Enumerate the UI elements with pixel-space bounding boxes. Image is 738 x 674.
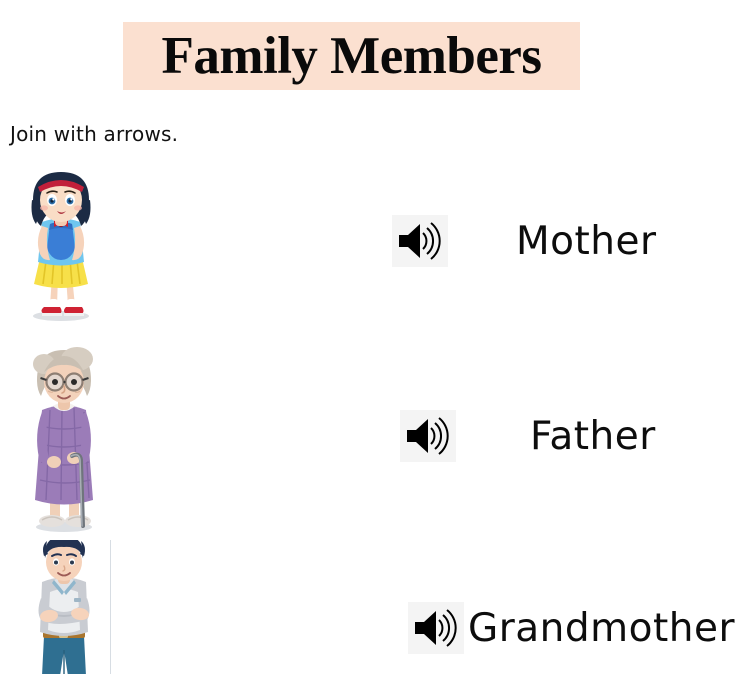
father-illustration: [14, 540, 114, 674]
page-title: Family Members: [123, 22, 580, 90]
speaker-icon-glyph: [405, 416, 451, 456]
grandmother-illustration: [14, 344, 114, 536]
word-label-grandmother: Grandmother: [468, 609, 735, 648]
speaker-icon-glyph: [413, 608, 459, 648]
word-label-mother: Mother: [516, 222, 657, 261]
speaker-icon[interactable]: [408, 602, 464, 654]
figure-girl[interactable]: [6, 166, 116, 324]
figure-grandmother[interactable]: [14, 344, 114, 536]
speaker-icon[interactable]: [400, 410, 456, 462]
row-mother[interactable]: Mother: [392, 213, 657, 269]
worksheet-page: Family Members Join with arrows.: [0, 0, 738, 674]
row-father[interactable]: Father: [400, 408, 656, 464]
speaker-icon-glyph: [397, 221, 443, 261]
word-label-father: Father: [530, 417, 656, 456]
image-edge-line: [110, 540, 111, 674]
instruction-text: Join with arrows.: [10, 122, 178, 146]
speaker-icon[interactable]: [392, 215, 448, 267]
row-grandmother[interactable]: Grandmother: [408, 600, 735, 656]
girl-illustration: [6, 166, 116, 324]
figure-father[interactable]: [14, 540, 114, 674]
